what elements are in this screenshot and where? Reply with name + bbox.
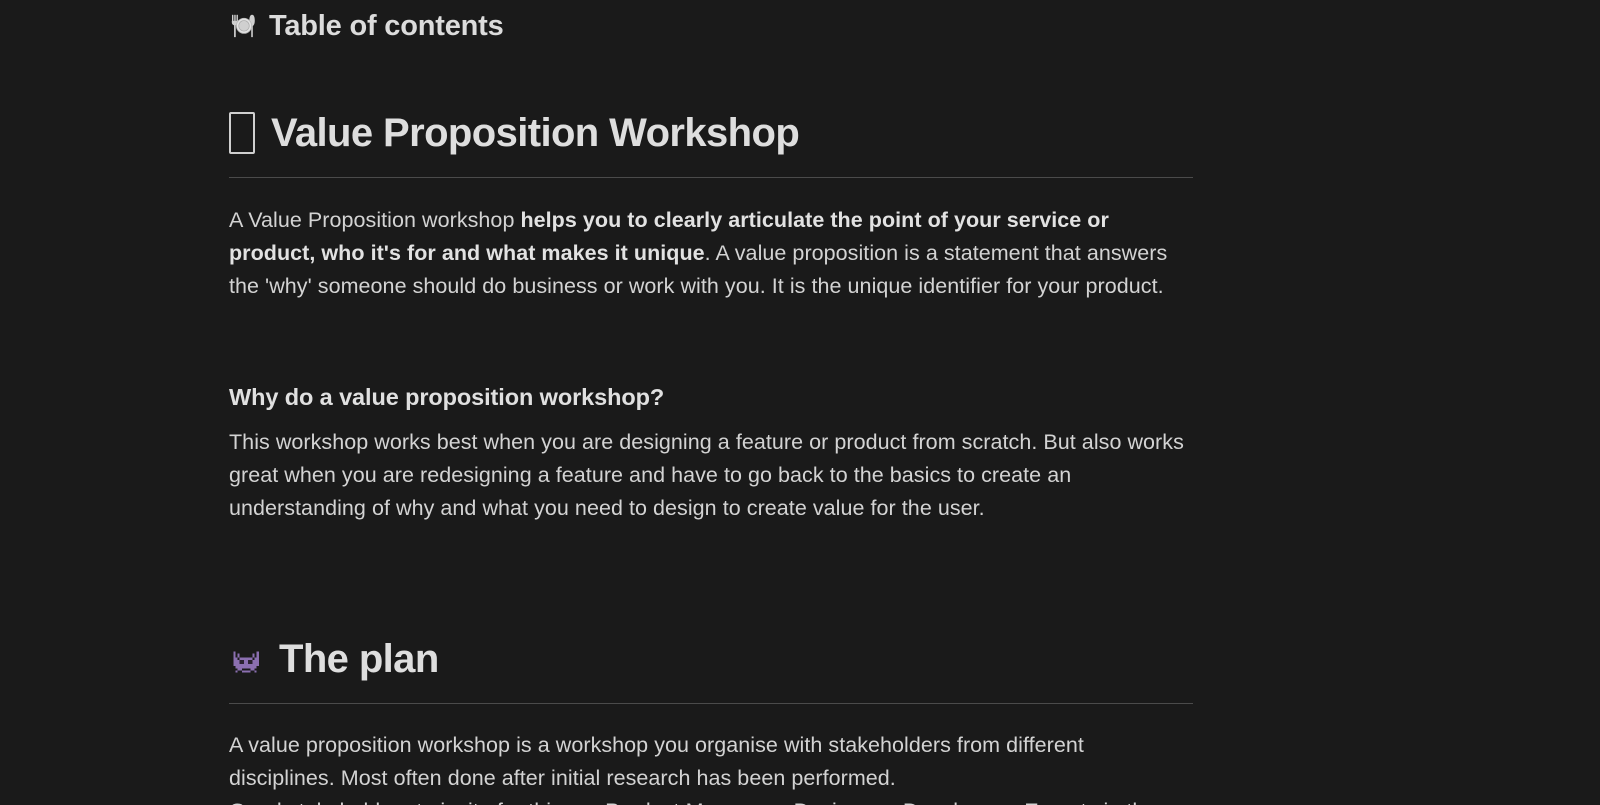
intro-paragraph: A Value Proposition workshop helps you t… — [229, 204, 1193, 303]
plan-line-1: A value proposition workshop is a worksh… — [229, 729, 1193, 795]
section-why-body: This workshop works best when you are de… — [229, 426, 1193, 525]
table-of-contents-label: Table of contents — [269, 7, 504, 45]
missing-glyph-box-icon — [229, 112, 255, 154]
page-title: Value Proposition Workshop — [229, 107, 1193, 159]
intro-lead: A Value Proposition workshop — [229, 208, 520, 232]
section-why-heading: Why do a value proposition workshop? — [229, 381, 1193, 413]
space-invader-icon — [229, 642, 263, 676]
document-page: Table of contents Value Proposition Work… — [0, 0, 1600, 805]
page-title-label: Value Proposition Workshop — [271, 107, 799, 159]
section-plan-body: A value proposition workshop is a worksh… — [229, 729, 1193, 805]
table-of-contents-heading: Table of contents — [229, 0, 1193, 45]
plan-divider — [229, 703, 1193, 704]
title-divider — [229, 177, 1193, 178]
plan-line-2: Good stakeholders to invite for this are… — [229, 795, 1193, 805]
plate-with-cutlery-icon — [229, 11, 259, 41]
section-plan-heading: The plan — [229, 633, 1193, 685]
section-why: Why do a value proposition workshop? Thi… — [229, 381, 1193, 525]
section-plan-label: The plan — [279, 633, 439, 685]
document-content: Table of contents Value Proposition Work… — [229, 0, 1193, 805]
